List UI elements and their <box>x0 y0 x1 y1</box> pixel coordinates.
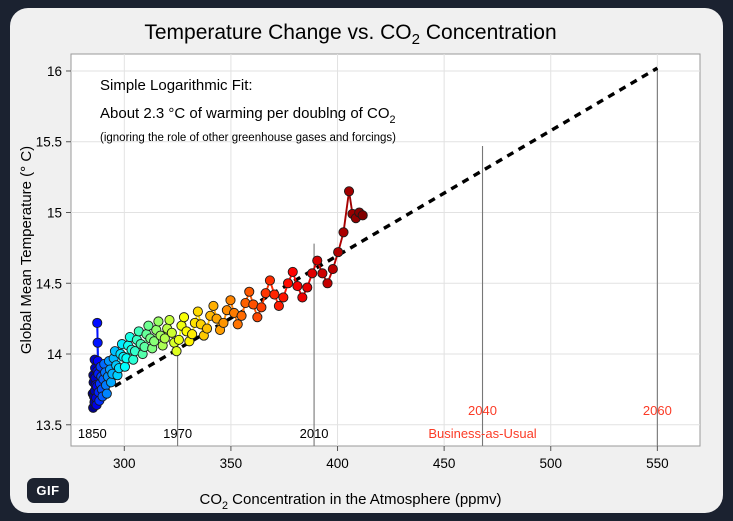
data-point <box>167 328 176 337</box>
chart-card: 30035040045050055013.51414.51515.516Temp… <box>10 8 723 513</box>
data-point <box>279 293 288 302</box>
chart-figure: 30035040045050055013.51414.51515.516Temp… <box>10 8 723 513</box>
data-point <box>174 335 183 344</box>
data-point <box>188 330 197 339</box>
data-point <box>334 248 343 257</box>
data-point <box>237 311 246 320</box>
x-tick-label: 300 <box>113 456 136 471</box>
data-point <box>274 301 283 310</box>
data-point <box>93 338 102 347</box>
y-tick-label: 14.5 <box>36 276 62 291</box>
data-point <box>358 211 367 220</box>
data-point <box>179 313 188 322</box>
x-axis-label: CO2 Concentration in the Atmosphere (ppm… <box>200 491 502 512</box>
data-point <box>172 347 181 356</box>
data-point <box>283 279 292 288</box>
data-point <box>129 355 138 364</box>
data-point <box>93 318 102 327</box>
gif-badge[interactable]: GIF <box>27 478 69 503</box>
data-point <box>308 269 317 278</box>
data-point <box>245 287 254 296</box>
data-point <box>265 276 274 285</box>
data-point <box>154 317 163 326</box>
year-label-2060: 2060 <box>643 403 672 418</box>
data-point <box>323 279 332 288</box>
data-point <box>193 307 202 316</box>
data-point <box>257 303 266 312</box>
data-point <box>293 281 302 290</box>
data-point <box>288 267 297 276</box>
x-tick-label: 550 <box>646 456 669 471</box>
year-label-2010: 2010 <box>300 426 329 441</box>
x-tick-label: 350 <box>220 456 243 471</box>
y-tick-label: 13.5 <box>36 418 62 433</box>
data-point <box>226 296 235 305</box>
y-tick-label: 15.5 <box>36 135 62 150</box>
annotation-line-1: Simple Logarithmic Fit: <box>100 77 253 94</box>
data-point <box>102 389 111 398</box>
business-as-usual-label: Business-as-Usual <box>428 426 536 441</box>
year-label-1970: 1970 <box>163 426 192 441</box>
data-point <box>253 313 262 322</box>
data-point <box>328 265 337 274</box>
x-tick-label: 450 <box>433 456 456 471</box>
y-tick-label: 14 <box>47 347 63 362</box>
annotation-line-3: (ignoring the role of other greenhouse g… <box>100 132 396 144</box>
data-point <box>339 228 348 237</box>
x-tick-label: 400 <box>326 456 349 471</box>
y-tick-label: 15 <box>47 205 62 220</box>
data-point <box>219 318 228 327</box>
x-tick-label: 500 <box>539 456 562 471</box>
data-point <box>270 290 279 299</box>
data-point <box>165 315 174 324</box>
year-label-2040: 2040 <box>468 403 497 418</box>
chart-title: Temperature Change vs. CO2 Concentration <box>144 21 556 48</box>
data-point <box>344 187 353 196</box>
data-point <box>298 293 307 302</box>
y-axis-label: Global Mean Temperature (° C) <box>18 146 35 354</box>
data-point <box>209 301 218 310</box>
y-tick-label: 16 <box>47 64 62 79</box>
data-point <box>318 269 327 278</box>
data-point <box>120 362 129 371</box>
data-point <box>303 283 312 292</box>
data-point <box>313 256 322 265</box>
data-point <box>233 320 242 329</box>
data-point <box>202 324 211 333</box>
year-label-1850: 1850 <box>78 426 107 441</box>
data-point <box>261 289 270 298</box>
